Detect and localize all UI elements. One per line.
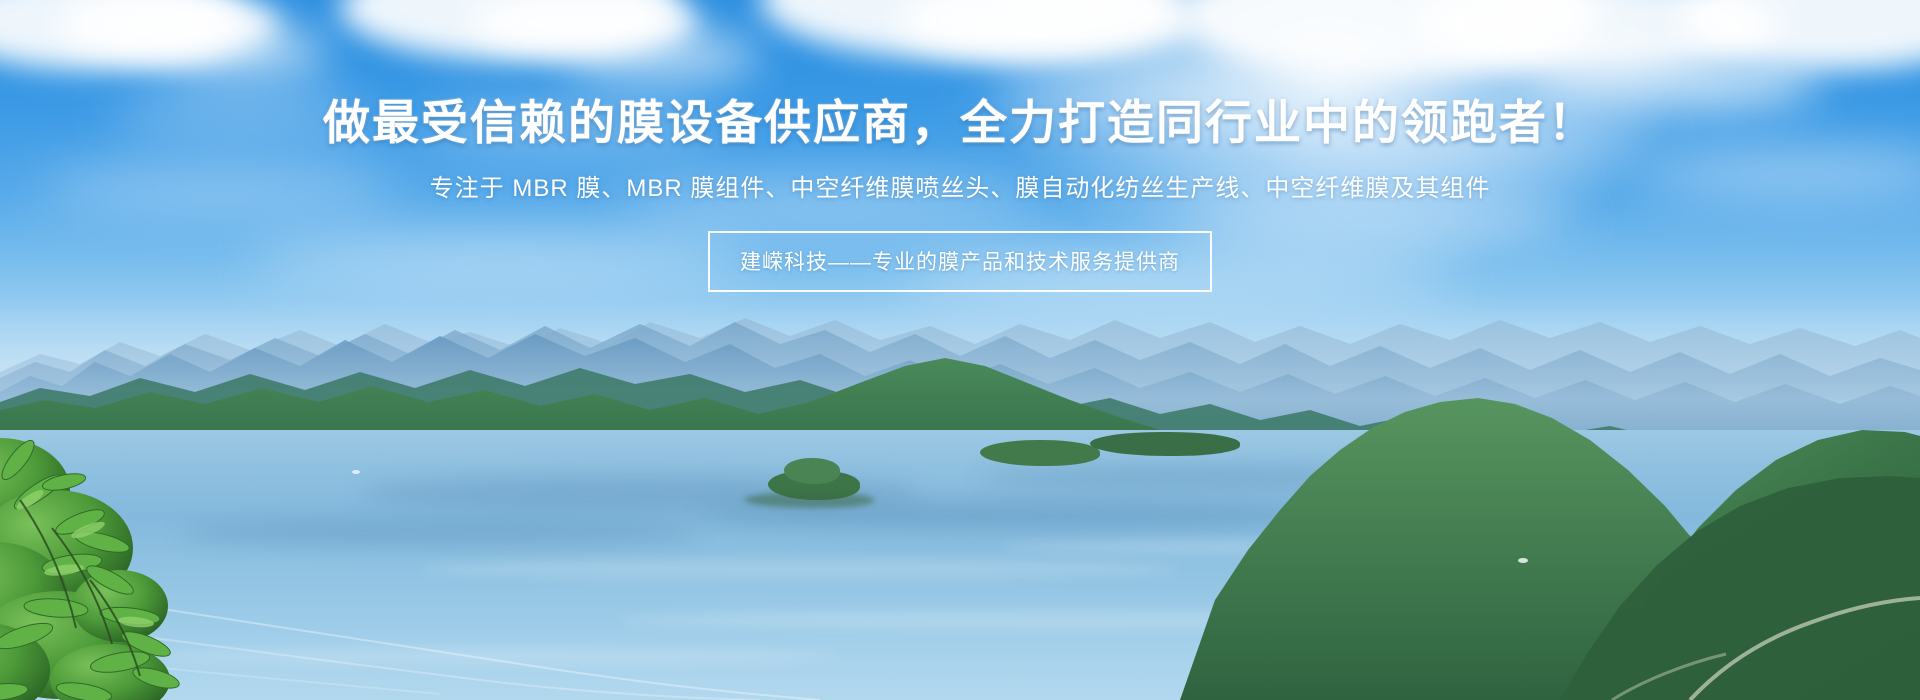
islet bbox=[980, 440, 1100, 466]
islet bbox=[744, 492, 874, 508]
boat-dot bbox=[1518, 558, 1528, 563]
banner-headline: 做最受信赖的膜设备供应商，全力打造同行业中的领跑者！ bbox=[0, 97, 1920, 150]
boat-dot bbox=[352, 470, 360, 474]
islet bbox=[784, 458, 840, 484]
banner-tagline-wrap: 建嵘科技——专业的膜产品和技术服务提供商 bbox=[0, 231, 1920, 292]
foreground-foliage bbox=[0, 430, 300, 700]
hero-banner: 做最受信赖的膜设备供应商，全力打造同行业中的领跑者！ 专注于 MBR 膜、MBR… bbox=[0, 0, 1920, 700]
banner-subheadline: 专注于 MBR 膜、MBR 膜组件、中空纤维膜喷丝头、膜自动化纺丝生产线、中空纤… bbox=[0, 172, 1920, 206]
banner-tagline-box: 建嵘科技——专业的膜产品和技术服务提供商 bbox=[708, 231, 1212, 292]
islet bbox=[1090, 432, 1240, 456]
banner-text-block: 做最受信赖的膜设备供应商，全力打造同行业中的领跑者！ 专注于 MBR 膜、MBR… bbox=[0, 0, 1920, 292]
